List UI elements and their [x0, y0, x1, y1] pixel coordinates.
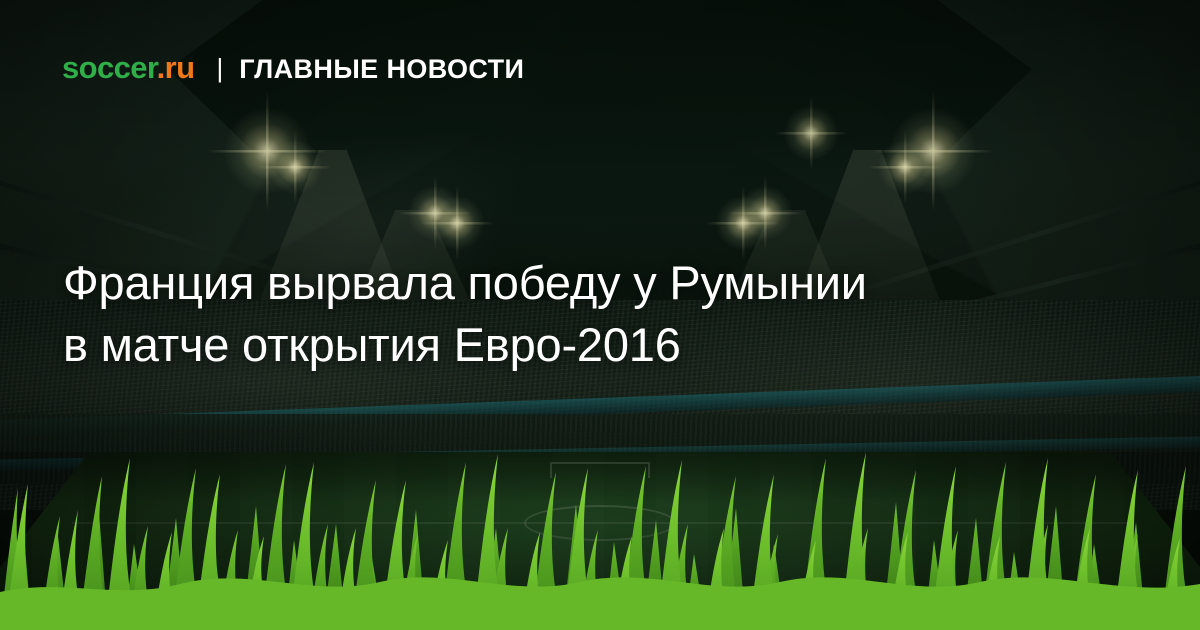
foreground-grass — [0, 440, 1200, 630]
headline-line-1: Франция вырвала победу у Румынии — [63, 252, 1143, 314]
site-logo[interactable]: soccer.ru — [62, 52, 194, 83]
header-divider: | — [216, 55, 223, 81]
logo-name: soccer — [62, 50, 157, 85]
article-headline: Франция вырвала победу у Румынии в матче… — [63, 252, 1143, 376]
logo-tld: .ru — [157, 50, 195, 85]
site-header: soccer.ru | ГЛАВНЫЕ НОВОСТИ — [62, 52, 524, 83]
news-share-card: soccer.ru | ГЛАВНЫЕ НОВОСТИ Франция вырв… — [0, 0, 1200, 630]
headline-line-2: в матче открытия Евро-2016 — [63, 314, 1143, 376]
header-kicker: ГЛАВНЫЕ НОВОСТИ — [239, 56, 524, 83]
